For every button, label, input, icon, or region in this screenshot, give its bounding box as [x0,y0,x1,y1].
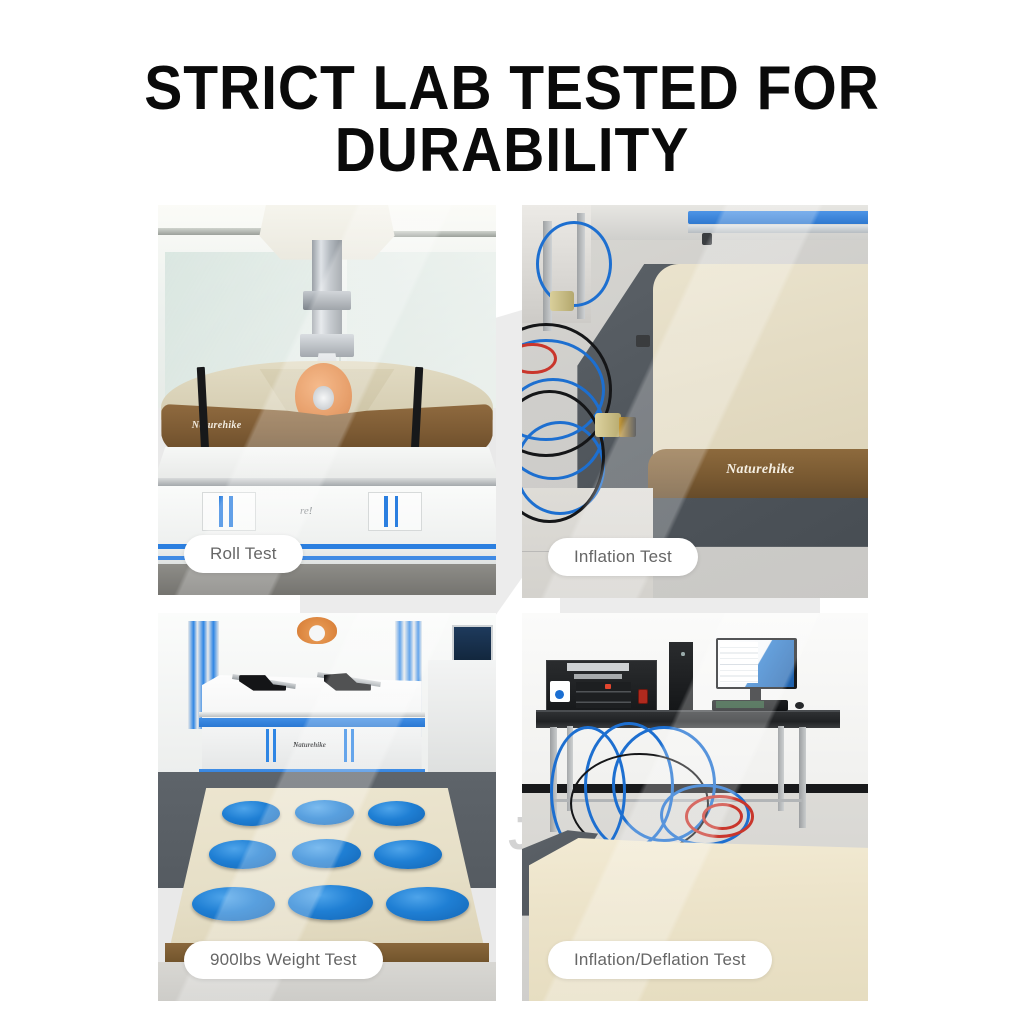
brass-valve [550,291,574,311]
brass-valve [595,413,621,437]
panel-roll-test[interactable]: Naturehike re! Roll Test [158,205,496,595]
weight-plate [292,839,361,868]
weight-plate [368,801,425,826]
weight-plate [295,800,354,825]
caption-roll-test: Roll Test [184,535,303,573]
test-photo-grid: Naturehike re! Roll Test [158,205,868,1001]
panel-weight-test[interactable]: Naturehike Naturehike [158,613,496,1001]
power-switch[interactable] [638,689,648,705]
weight-plate [192,887,275,922]
mattress-brand-label: Naturehike [726,462,794,478]
weight-plate [386,887,469,922]
orange-roller-wheel [297,617,338,644]
panel-inflation-test[interactable]: Naturehike Inflation Test [522,205,868,598]
weight-plate [374,840,442,869]
machine-decal-text: re! [300,505,312,517]
product-feature-image: STRICT LAB TESTED FOR DURABILITY MORE TH… [0,0,1024,1024]
floor-nozzle [636,335,650,348]
weight-plate [209,840,277,869]
mattress-top [653,264,868,468]
machine-brand-label: Naturehike [293,741,326,749]
weight-plate [222,801,279,826]
panel-inflation-deflation-test[interactable]: Inflation/Deflation Test [522,613,868,1001]
weight-plate [288,885,373,920]
page-title-text: STRICT LAB TESTED FOR DURABILITY [41,58,983,182]
caption-inflation-deflation-test: Inflation/Deflation Test [548,941,772,979]
page-title: STRICT LAB TESTED FOR DURABILITY [0,58,1024,182]
spreadsheet-window [720,642,758,683]
caption-weight-test: 900lbs Weight Test [184,941,383,979]
caption-inflation-test: Inflation Test [548,538,698,576]
status-led [605,684,611,689]
